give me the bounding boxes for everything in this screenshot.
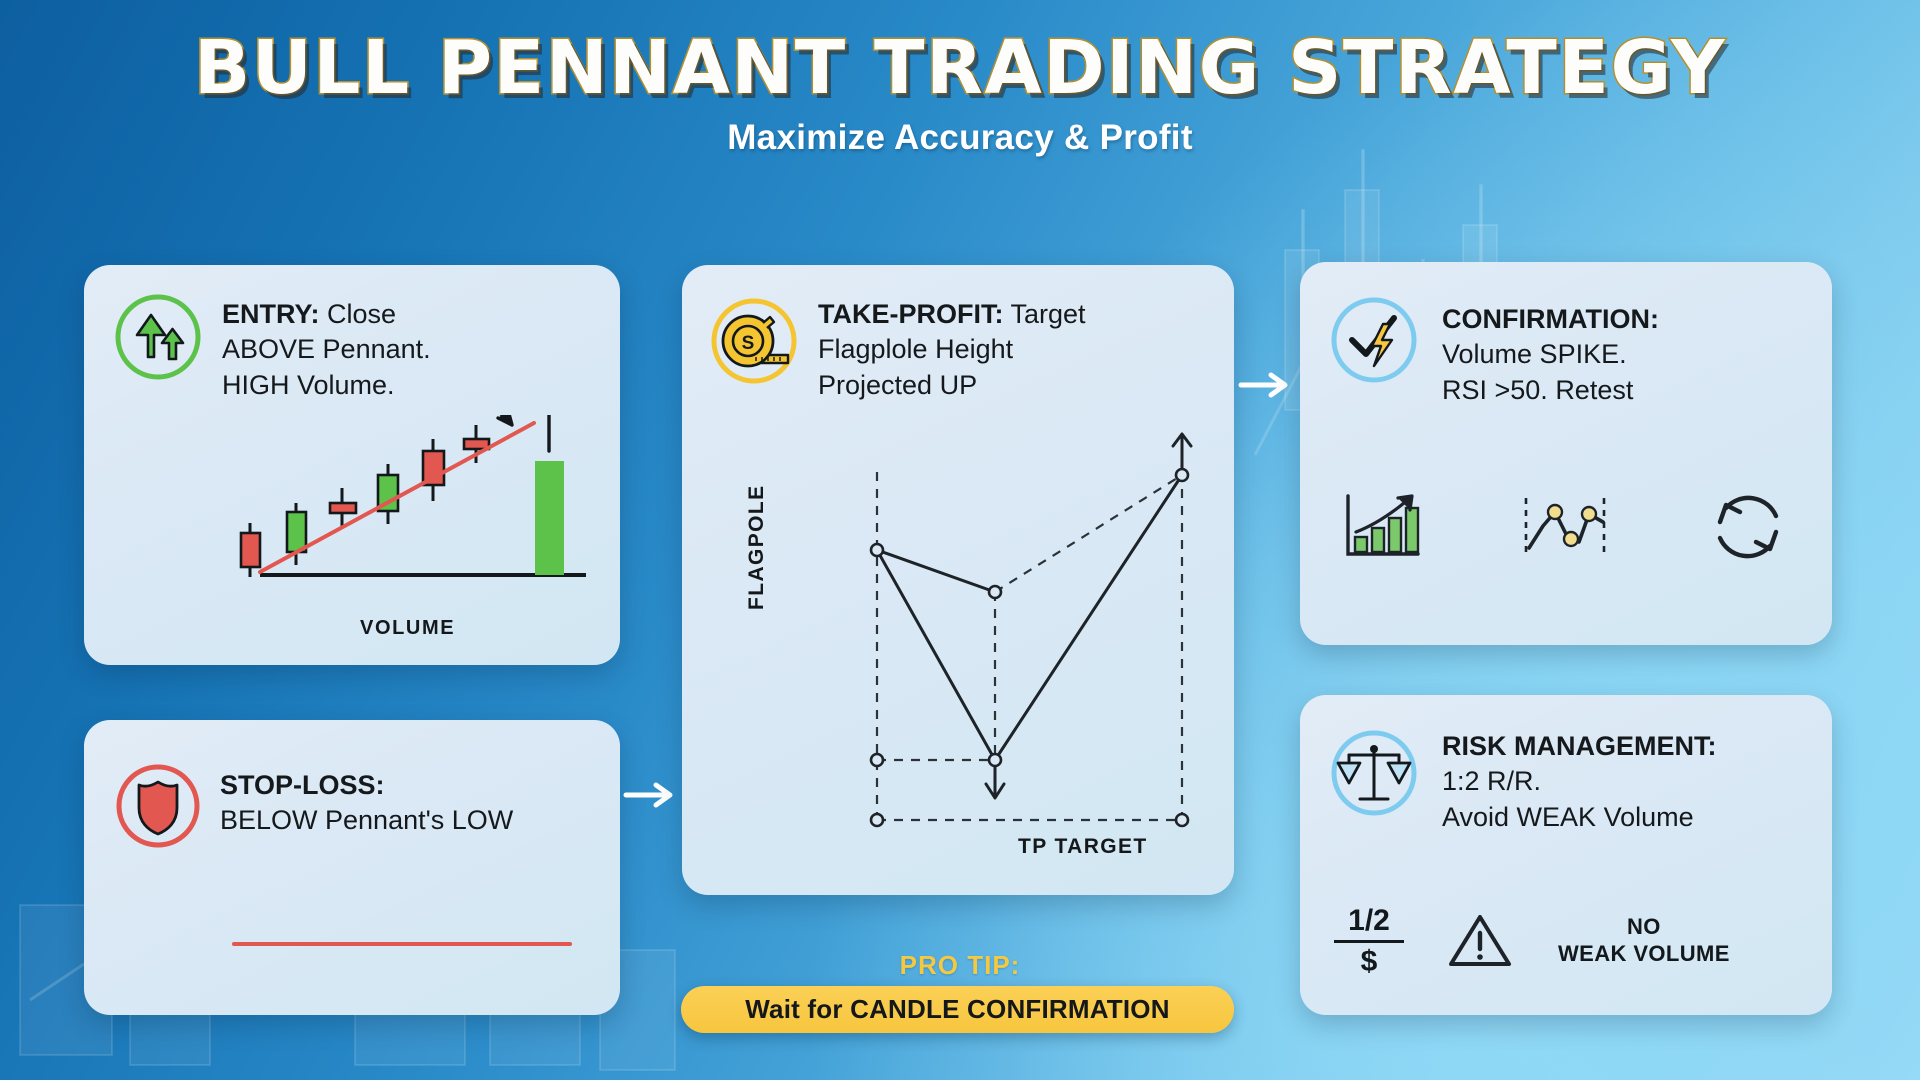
entry-line3: HIGH Volume. — [222, 368, 607, 403]
entry-header: ENTRY: Close ABOVE Pennant. HIGH Volume. — [84, 265, 620, 403]
stop-loss-text: STOP-LOSS: BELOW Pennant's LOW — [220, 768, 620, 839]
tp-target-axis-label: TP TARGET — [1018, 835, 1148, 859]
entry-heading-rest: Close — [320, 299, 397, 329]
pro-tip-label: PRO TIP: — [0, 950, 1920, 981]
flow-arrow-stoploss-to-takeprofit — [620, 775, 684, 815]
retest-refresh-icon — [1706, 490, 1790, 564]
pro-tip-banner[interactable]: Wait for CANDLE CONFIRMATION — [681, 986, 1234, 1033]
stop-loss-divider — [232, 942, 572, 946]
tape-measure-icon: S — [706, 293, 802, 394]
header: BULL PENNANT TRADING STRATEGY Maximize A… — [0, 30, 1920, 158]
risk-line2: 1:2 R/R. — [1442, 764, 1832, 799]
take-profit-heading: TAKE-PROFIT: — [818, 299, 1003, 329]
take-profit-line3: Projected UP — [818, 368, 1198, 403]
shield-icon — [112, 760, 204, 857]
flow-arrow-takeprofit-to-confirmation — [1235, 365, 1299, 405]
growth-bar-chart-icon — [1340, 490, 1424, 564]
take-profit-line2: Flagplole Height — [818, 332, 1198, 367]
confirmation-line3: RSI >50. Retest — [1442, 373, 1802, 408]
risk-line3: Avoid WEAK Volume — [1442, 800, 1832, 835]
stop-loss-line2: BELOW Pennant's LOW — [220, 803, 620, 838]
confirmation-text: CONFIRMATION: Volume SPIKE. RSI >50. Ret… — [1442, 302, 1802, 408]
page-subtitle: Maximize Accuracy & Profit — [0, 118, 1920, 158]
card-confirmation[interactable]: CONFIRMATION: Volume SPIKE. RSI >50. Ret… — [1300, 262, 1832, 645]
up-arrows-icon — [112, 291, 204, 388]
entry-line2: ABOVE Pennant. — [222, 332, 607, 367]
entry-volume-axis-label: VOLUME — [360, 617, 455, 640]
fraction-bar — [1334, 940, 1404, 943]
warning-line-1: NO — [1558, 914, 1730, 941]
rsi-wave-icon — [1519, 492, 1611, 562]
take-profit-header: S TAKE-PROFIT: Target Flagplole Height P… — [682, 265, 1234, 403]
check-bolt-icon — [1326, 292, 1422, 393]
card-entry[interactable]: ENTRY: Close ABOVE Pennant. HIGH Volume. — [84, 265, 620, 665]
card-take-profit[interactable]: S TAKE-PROFIT: Target Flagplole Height P… — [682, 265, 1234, 895]
risk-text: RISK MANAGEMENT: 1:2 R/R. Avoid WEAK Vol… — [1442, 729, 1832, 835]
take-profit-heading-rest: Target — [1003, 299, 1085, 329]
risk-ratio-numerator: 1/2 — [1334, 905, 1404, 937]
flagpole-axis-label: FLAGPOLE — [745, 484, 769, 610]
page-title: BULL PENNANT TRADING STRATEGY — [194, 30, 1726, 108]
stop-loss-heading: STOP-LOSS: — [220, 770, 385, 800]
confirmation-icon-row — [1340, 490, 1790, 564]
svg-text:S: S — [742, 333, 755, 354]
confirmation-header: CONFIRMATION: Volume SPIKE. RSI >50. Ret… — [1300, 262, 1832, 408]
scales-icon — [1326, 725, 1422, 826]
entry-heading: ENTRY: — [222, 299, 320, 329]
entry-text: ENTRY: Close ABOVE Pennant. HIGH Volume. — [222, 297, 607, 403]
risk-header: RISK MANAGEMENT: 1:2 R/R. Avoid WEAK Vol… — [1300, 695, 1832, 835]
confirmation-heading: CONFIRMATION: — [1442, 304, 1659, 334]
confirmation-line2: Volume SPIKE. — [1442, 337, 1802, 372]
risk-heading: RISK MANAGEMENT: — [1442, 731, 1717, 761]
entry-candlestick-chart — [84, 415, 620, 615]
stop-loss-header: STOP-LOSS: BELOW Pennant's LOW — [84, 720, 620, 857]
take-profit-text: TAKE-PROFIT: Target Flagplole Height Pro… — [818, 297, 1198, 403]
